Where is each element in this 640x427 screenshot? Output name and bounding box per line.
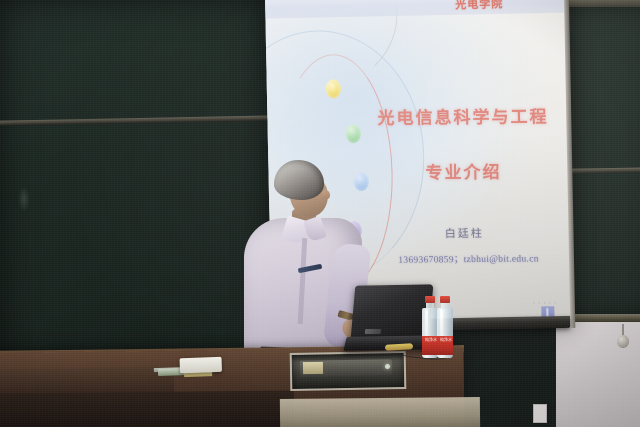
presenter-hair [274, 160, 324, 200]
slide-title-line-1: 光电信息科学与工程 [377, 102, 549, 129]
bottle-cap [425, 296, 435, 303]
slide-header-chinese: 光电学院 [455, 0, 504, 13]
slide-footer-dots: • • • • • [533, 300, 557, 305]
water-bottle-left: 纯净水 [422, 296, 438, 358]
desk-front-panel [280, 397, 480, 427]
bottle-label-text: 纯净水 [425, 338, 437, 343]
water-bottle-right: 纯净水 [437, 296, 453, 358]
wall-hook-icon [616, 324, 630, 350]
bottle-label-text: 纯净水 [440, 338, 452, 343]
chalkboard-left [0, 0, 276, 366]
lecture-hall-scene: ...TE OF TECHNOLOGY 光电学院 光电信息科学与工程 专业介绍 … [0, 0, 640, 427]
laptop-logo [365, 329, 382, 334]
presenter-nose [322, 190, 330, 199]
laptop-lid [351, 284, 434, 339]
chalkboard-right-top-frame [566, 0, 640, 7]
bench-shelf [0, 390, 294, 427]
chalkboard-right [566, 2, 640, 320]
podium-status-led [385, 364, 390, 369]
slide-contact-info: 13693670859；tzbhui@bit.edu.cn [398, 250, 539, 265]
slide-title-line-2: 专业介绍 [425, 158, 502, 184]
slide-dot-yellow [326, 79, 341, 98]
wall-outlet [533, 404, 547, 423]
bottle-cap [440, 296, 450, 303]
chalk-smudge [18, 186, 30, 212]
slide-header-band [265, 0, 575, 19]
slide-presenter-name: 白廷柱 [445, 225, 484, 241]
slide-dot-green [346, 124, 361, 143]
papers-on-desk [150, 361, 226, 384]
podium-inner-note [303, 362, 323, 374]
